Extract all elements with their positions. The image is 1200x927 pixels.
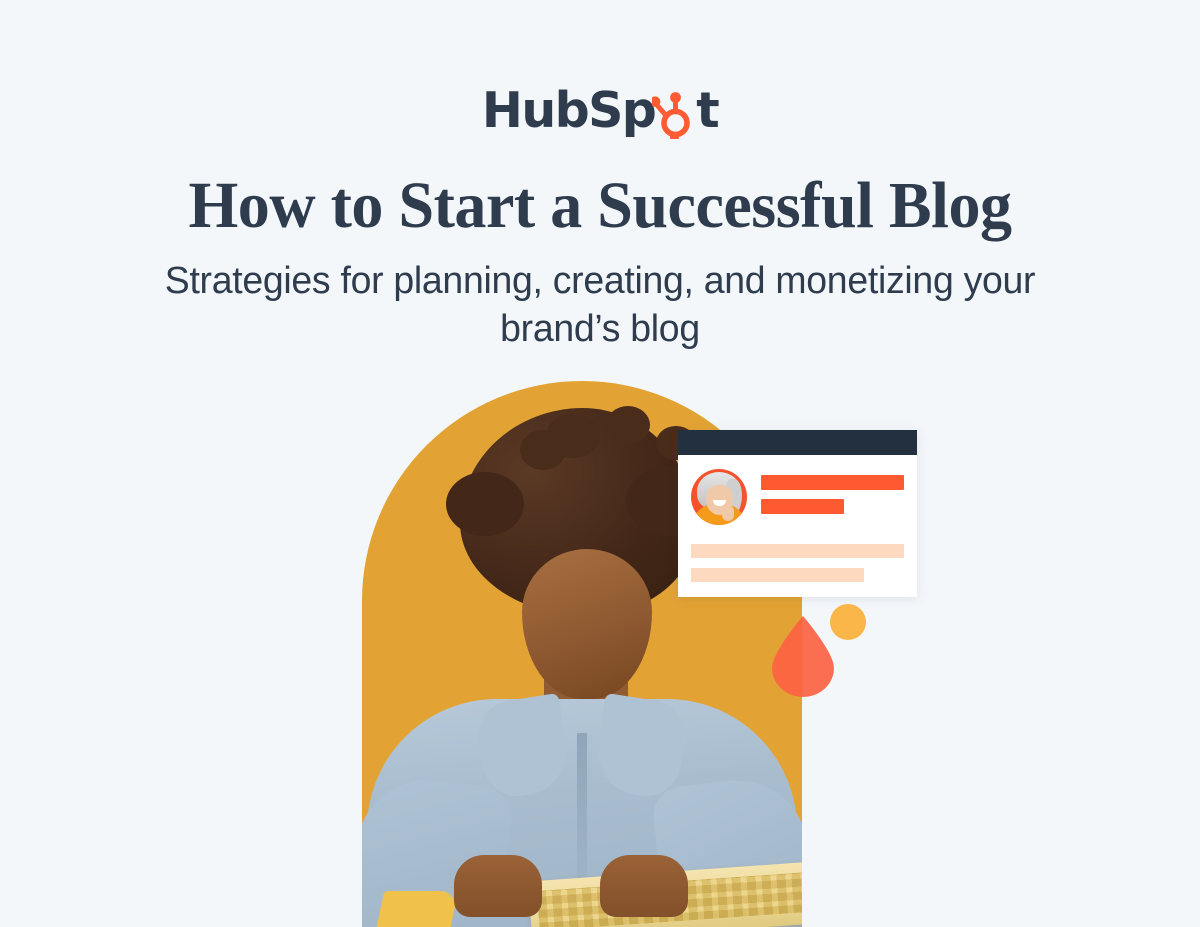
keyboard bbox=[528, 861, 802, 927]
hubspot-wordmark: HubSp t bbox=[482, 86, 718, 139]
card-author-row bbox=[691, 469, 904, 525]
page-subtitle: Strategies for planning, creating, and m… bbox=[137, 258, 1063, 354]
golden-arch-backdrop bbox=[362, 381, 802, 927]
hubspot-wordmark-prefix: HubSp bbox=[482, 82, 655, 139]
droplet-shape bbox=[772, 616, 834, 697]
person-typing-photo bbox=[362, 381, 802, 927]
hubspot-wordmark-suffix: t bbox=[696, 82, 718, 139]
author-avatar bbox=[691, 469, 747, 525]
hair bbox=[460, 408, 696, 616]
ebook-cover: HubSp t How to Start a Successful Blog S… bbox=[0, 0, 1200, 927]
denim-collar-right bbox=[591, 693, 691, 801]
face bbox=[522, 549, 652, 699]
hair-tuft bbox=[546, 414, 600, 458]
denim-sleeve-right bbox=[650, 774, 802, 927]
blog-post-preview-card bbox=[678, 430, 917, 597]
denim-collar-left bbox=[473, 693, 573, 801]
card-headline-bars bbox=[761, 469, 904, 514]
desk-surface bbox=[362, 849, 802, 927]
yellow-dot-shape bbox=[830, 604, 866, 640]
card-body bbox=[678, 455, 917, 582]
denim-sleeve-left bbox=[362, 774, 514, 927]
neck bbox=[544, 657, 628, 749]
hand-right bbox=[600, 855, 688, 917]
avatar-hand bbox=[722, 505, 734, 521]
page-title: How to Start a Successful Blog bbox=[18, 171, 1182, 240]
hair-tuft bbox=[606, 406, 650, 444]
denim-jacket-torso bbox=[367, 699, 797, 927]
desk-object bbox=[376, 891, 459, 927]
card-body-bars bbox=[691, 544, 904, 582]
headline-bar-primary bbox=[761, 475, 904, 490]
headline-bar-secondary bbox=[761, 499, 844, 514]
cover-illustration bbox=[0, 0, 1200, 927]
body-bar-secondary bbox=[691, 568, 864, 582]
avatar-smile bbox=[713, 500, 726, 506]
desk-edge bbox=[362, 848, 802, 857]
hair-tuft bbox=[520, 430, 566, 470]
avatar-hair-side bbox=[725, 479, 742, 515]
avatar-face bbox=[706, 485, 733, 515]
body-bar-primary bbox=[691, 544, 904, 558]
hair-tuft bbox=[656, 426, 696, 460]
hand-left bbox=[454, 855, 542, 917]
avatar-body bbox=[691, 503, 747, 525]
avatar-hair bbox=[697, 472, 741, 510]
hubspot-logo: HubSp t bbox=[0, 86, 1200, 139]
hubspot-sprocket-icon bbox=[652, 89, 698, 139]
card-header-bar bbox=[678, 430, 917, 455]
denim-zipper bbox=[577, 733, 587, 927]
